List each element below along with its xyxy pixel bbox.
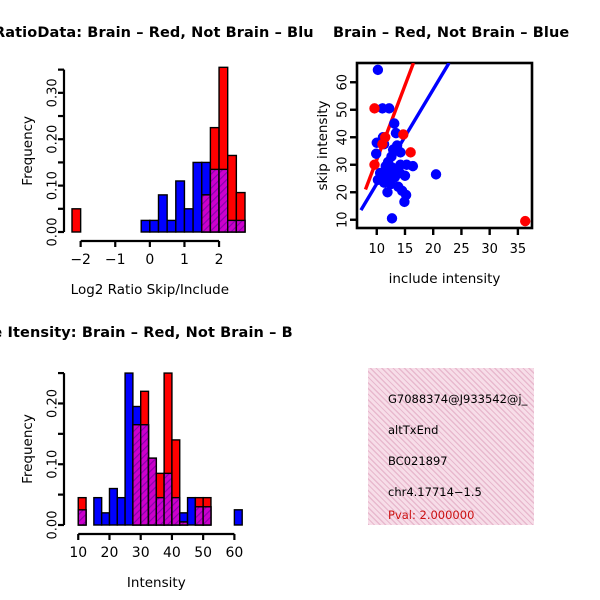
- scatter-title: Brain – Red, Not Brain – Blue: [333, 25, 569, 41]
- svg-text:30: 30: [132, 545, 150, 561]
- svg-text:0.10: 0.10: [46, 450, 61, 479]
- svg-text:50: 50: [336, 101, 351, 118]
- svg-text:Log2 Ratio Skip/Include: Log2 Ratio Skip/Include: [71, 282, 229, 298]
- svg-text:60: 60: [336, 74, 351, 91]
- svg-text:30: 30: [481, 242, 498, 257]
- info-line-id: G7088374@J933542@j_: [388, 392, 527, 406]
- info-line-accession: BC021897: [388, 454, 448, 468]
- svg-text:40: 40: [336, 129, 351, 146]
- svg-text:0.20: 0.20: [46, 389, 61, 418]
- gene-info-panel: G7088374@J933542@j_ altTxEnd BC021897 ch…: [368, 368, 534, 525]
- svg-text:Frequency: Frequency: [20, 414, 36, 484]
- svg-text:1: 1: [180, 252, 189, 268]
- svg-text:10: 10: [336, 211, 351, 228]
- info-line-locus: chr4.17714−1.5: [388, 485, 482, 499]
- svg-text:30: 30: [336, 156, 351, 173]
- svg-text:25: 25: [453, 242, 470, 257]
- hist-ratio-plot: 0.000.100.200.30−2−1012Log2 Ratio Skip/I…: [0, 45, 300, 300]
- svg-text:10: 10: [368, 242, 385, 257]
- svg-text:2: 2: [215, 252, 224, 268]
- info-line-pvalue: Pval: 2.000000: [388, 508, 474, 522]
- svg-text:0.30: 0.30: [46, 78, 61, 107]
- svg-text:−2: −2: [70, 252, 91, 268]
- svg-text:Frequency: Frequency: [20, 116, 36, 186]
- svg-text:0.00: 0.00: [46, 511, 61, 540]
- scatter-plot: 102030405060101520253035include intensit…: [300, 45, 600, 300]
- svg-text:20: 20: [336, 184, 351, 201]
- svg-text:35: 35: [510, 242, 527, 257]
- svg-text:include intensity: include intensity: [389, 271, 501, 287]
- svg-text:0.00: 0.00: [46, 218, 61, 247]
- hist-ratio-title: RatioData: Brain – Red, Not Brain – Blu: [0, 25, 314, 41]
- hist-intensity-title: ne Itensity: Brain – Red, Not Brain – B: [0, 325, 293, 341]
- svg-text:60: 60: [225, 545, 243, 561]
- svg-text:15: 15: [397, 242, 414, 257]
- svg-text:Intensity: Intensity: [127, 575, 186, 591]
- scatter-panel: 102030405060101520253035include intensit…: [300, 45, 600, 300]
- svg-text:10: 10: [69, 545, 87, 561]
- svg-text:40: 40: [163, 545, 181, 561]
- svg-text:50: 50: [194, 545, 212, 561]
- info-line-event: altTxEnd: [388, 423, 438, 437]
- svg-text:skip intensity: skip intensity: [315, 100, 331, 190]
- svg-text:0.10: 0.10: [46, 171, 61, 200]
- svg-text:20: 20: [101, 545, 119, 561]
- svg-text:−1: −1: [105, 252, 126, 268]
- svg-text:0: 0: [145, 252, 154, 268]
- svg-text:20: 20: [425, 242, 442, 257]
- svg-text:0.20: 0.20: [46, 125, 61, 154]
- hist-intensity-plot: 0.000.100.20102030405060IntensityFrequen…: [0, 345, 300, 600]
- hist-ratio-panel: 0.000.100.200.30−2−1012Log2 Ratio Skip/I…: [0, 45, 300, 300]
- hist-intensity-panel: 0.000.100.20102030405060IntensityFrequen…: [0, 345, 300, 600]
